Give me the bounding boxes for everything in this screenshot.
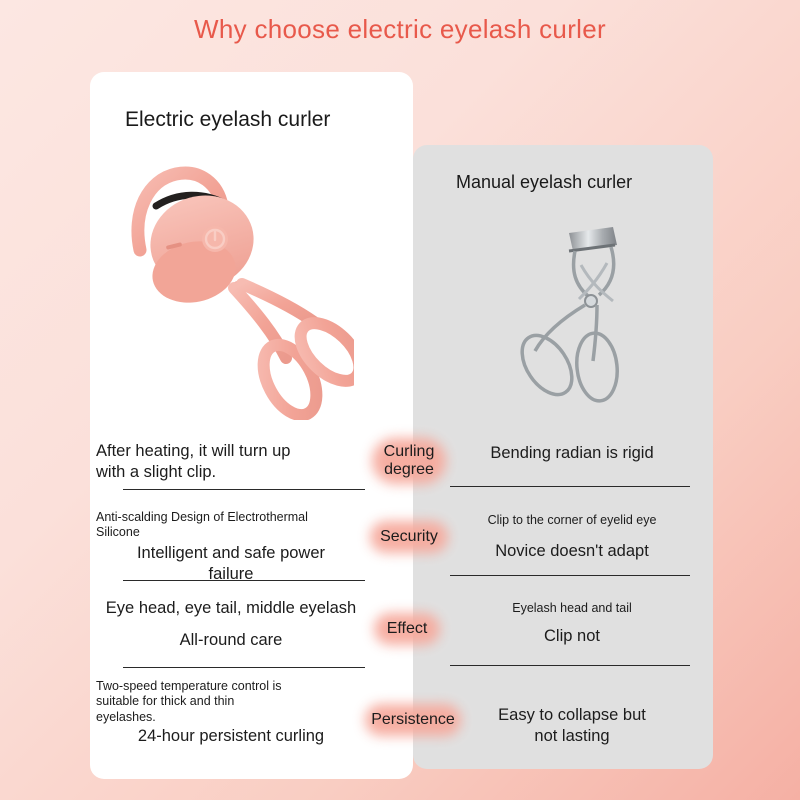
row-curling-left-divider (123, 489, 365, 490)
row-persistence-left-caption: Two-speed temperature control is suitabl… (96, 679, 366, 725)
row-effect-right-caption: Eyelash head and tail (444, 601, 700, 616)
row-effect-left-divider (123, 667, 365, 668)
row-curling-right-divider (450, 486, 690, 487)
page-title: Why choose electric eyelash curler (0, 14, 800, 45)
row-curling-left-text: After heating, it will turn up with a sl… (96, 441, 366, 483)
electric-panel-title: Electric eyelash curler (125, 108, 330, 132)
row-effect-left-text: All-round care (96, 630, 366, 651)
row-label-persistence[interactable]: Persistence (365, 704, 461, 736)
row-security-right-text: Novice doesn't adapt (444, 541, 700, 562)
row-label-security[interactable]: Security (370, 521, 448, 553)
row-label-curling-degree[interactable]: Curling degree (372, 438, 446, 484)
row-persistence-left-text: 24-hour persistent curling (96, 726, 366, 747)
row-security-right-divider (450, 575, 690, 576)
row-label-effect[interactable]: Effect (374, 613, 440, 645)
row-security-left-divider (123, 580, 365, 581)
manual-panel-title: Manual eyelash curler (456, 172, 632, 193)
row-security-right-caption: Clip to the corner of eyelid eye (444, 513, 700, 528)
row-curling-right-text: Bending radian is rigid (444, 443, 700, 464)
row-security-left-text: Intelligent and safe power failure (96, 543, 366, 585)
manual-eyelash-curler-icon (505, 205, 675, 415)
electric-eyelash-curler-icon (122, 162, 354, 420)
row-persistence-right-text: Easy to collapse but not lasting (444, 705, 700, 747)
row-security-left-caption: Anti-scalding Design of Electrothermal S… (96, 510, 366, 541)
row-effect-right-divider (450, 665, 690, 666)
row-effect-right-text: Clip not (444, 626, 700, 647)
row-effect-left-caption: Eye head, eye tail, middle eyelash (96, 598, 366, 619)
